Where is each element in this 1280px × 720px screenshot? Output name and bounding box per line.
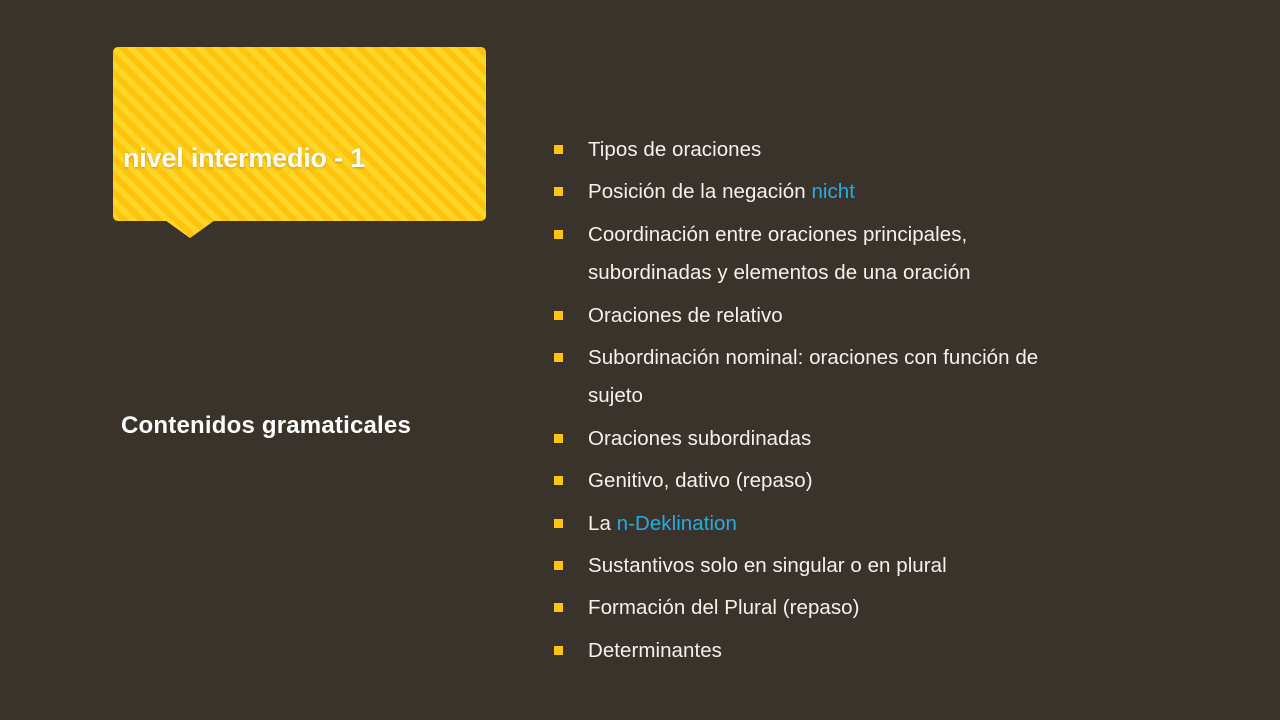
plain-text: Coordinación entre oraciones principales… <box>588 223 971 284</box>
list-item-label: Sustantivos solo en singular o en plural <box>588 554 947 577</box>
grammar-contents-list: Tipos de oracionesPosición de la negació… <box>554 131 1074 674</box>
plain-text: Sustantivos solo en singular o en plural <box>588 554 947 577</box>
square-bullet-icon <box>554 187 563 196</box>
plain-text: Oraciones de relativo <box>588 304 783 327</box>
list-item-label: Determinantes <box>588 639 722 662</box>
list-item: Oraciones subordinadas <box>554 420 1074 458</box>
list-item-label: Oraciones de relativo <box>588 304 783 327</box>
square-bullet-icon <box>554 145 563 154</box>
list-item-label: Genitivo, dativo (repaso) <box>588 469 813 492</box>
callout-title: nivel intermedio - 1 <box>123 143 476 174</box>
square-bullet-icon <box>554 476 563 485</box>
list-item: Tipos de oraciones <box>554 131 1074 169</box>
square-bullet-icon <box>554 646 563 655</box>
list-item: Formación del Plural (repaso) <box>554 589 1074 627</box>
list-item-label: Coordinación entre oraciones principales… <box>588 223 971 284</box>
plain-text: Formación del Plural (repaso) <box>588 596 859 619</box>
section-caption: Contenidos gramaticales <box>121 412 411 440</box>
plain-text: Tipos de oraciones <box>588 138 761 161</box>
list-item-label: Posición de la negación nicht <box>588 180 855 203</box>
list-item: Coordinación entre oraciones principales… <box>554 216 1074 293</box>
list-item: Determinantes <box>554 632 1074 670</box>
list-item: Subordinación nominal: oraciones con fun… <box>554 339 1074 416</box>
square-bullet-icon <box>554 561 563 570</box>
list-item-label: Oraciones subordinadas <box>588 427 811 450</box>
list-item: Oraciones de relativo <box>554 297 1074 335</box>
list-item-label: Formación del Plural (repaso) <box>588 596 859 619</box>
plain-text: Subordinación nominal: oraciones con fun… <box>588 346 1038 407</box>
square-bullet-icon <box>554 230 563 239</box>
list-item: Sustantivos solo en singular o en plural <box>554 547 1074 585</box>
plain-text: La <box>588 512 617 535</box>
square-bullet-icon <box>554 434 563 443</box>
list-item-label: Tipos de oraciones <box>588 138 761 161</box>
plain-text: Genitivo, dativo (repaso) <box>588 469 813 492</box>
accent-term: n-Deklination <box>617 512 737 535</box>
square-bullet-icon <box>554 519 563 528</box>
accent-term: nicht <box>811 180 855 203</box>
callout-box: nivel intermedio - 1 <box>113 47 486 221</box>
square-bullet-icon <box>554 353 563 362</box>
plain-text: Posición de la negación <box>588 180 811 203</box>
square-bullet-icon <box>554 603 563 612</box>
plain-text: Determinantes <box>588 639 722 662</box>
slide-canvas: nivel intermedio - 1 Contenidos gramatic… <box>0 0 1280 720</box>
list-item-label: Subordinación nominal: oraciones con fun… <box>588 346 1038 407</box>
level-callout: nivel intermedio - 1 <box>113 47 486 239</box>
list-item: La n-Deklination <box>554 505 1074 543</box>
plain-text: Oraciones subordinadas <box>588 427 811 450</box>
square-bullet-icon <box>554 311 563 320</box>
list-item-label: La n-Deklination <box>588 512 737 535</box>
list-item: Genitivo, dativo (repaso) <box>554 462 1074 500</box>
list-item: Posición de la negación nicht <box>554 173 1074 211</box>
